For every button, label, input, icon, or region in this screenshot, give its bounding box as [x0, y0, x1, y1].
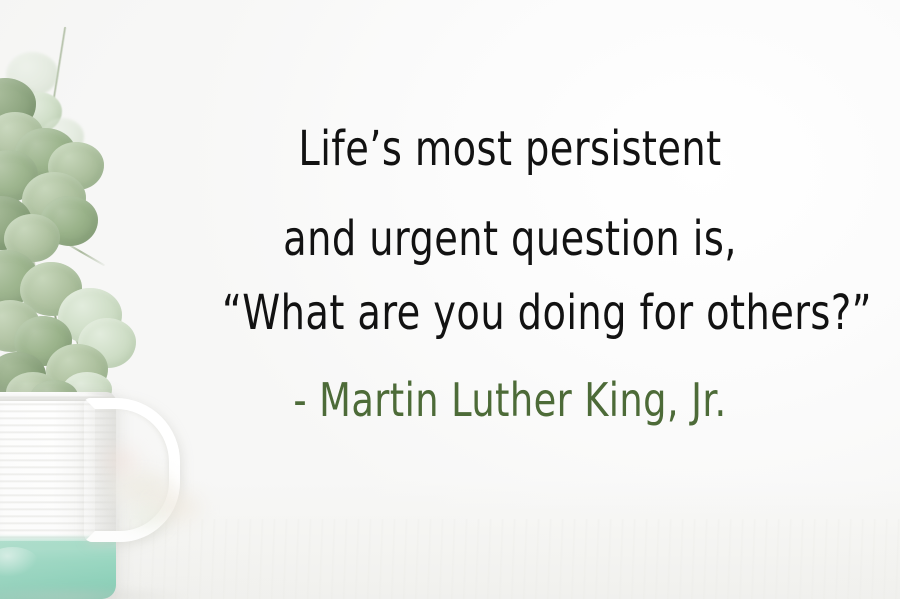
quote-text-block: Life’s most persistent and urgent questi…	[150, 118, 870, 430]
quote-attribution: - Martin Luther King, Jr.	[222, 370, 798, 430]
pitcher-highlight	[0, 547, 38, 577]
pitcher-shadow	[0, 586, 190, 599]
quote-line-2: and urgent question is,	[222, 208, 798, 270]
quote-line-1: Life’s most persistent	[222, 118, 798, 180]
quote-line-3: “What are you doing for others?”	[222, 282, 798, 344]
quote-image: Life’s most persistent and urgent questi…	[0, 0, 900, 599]
